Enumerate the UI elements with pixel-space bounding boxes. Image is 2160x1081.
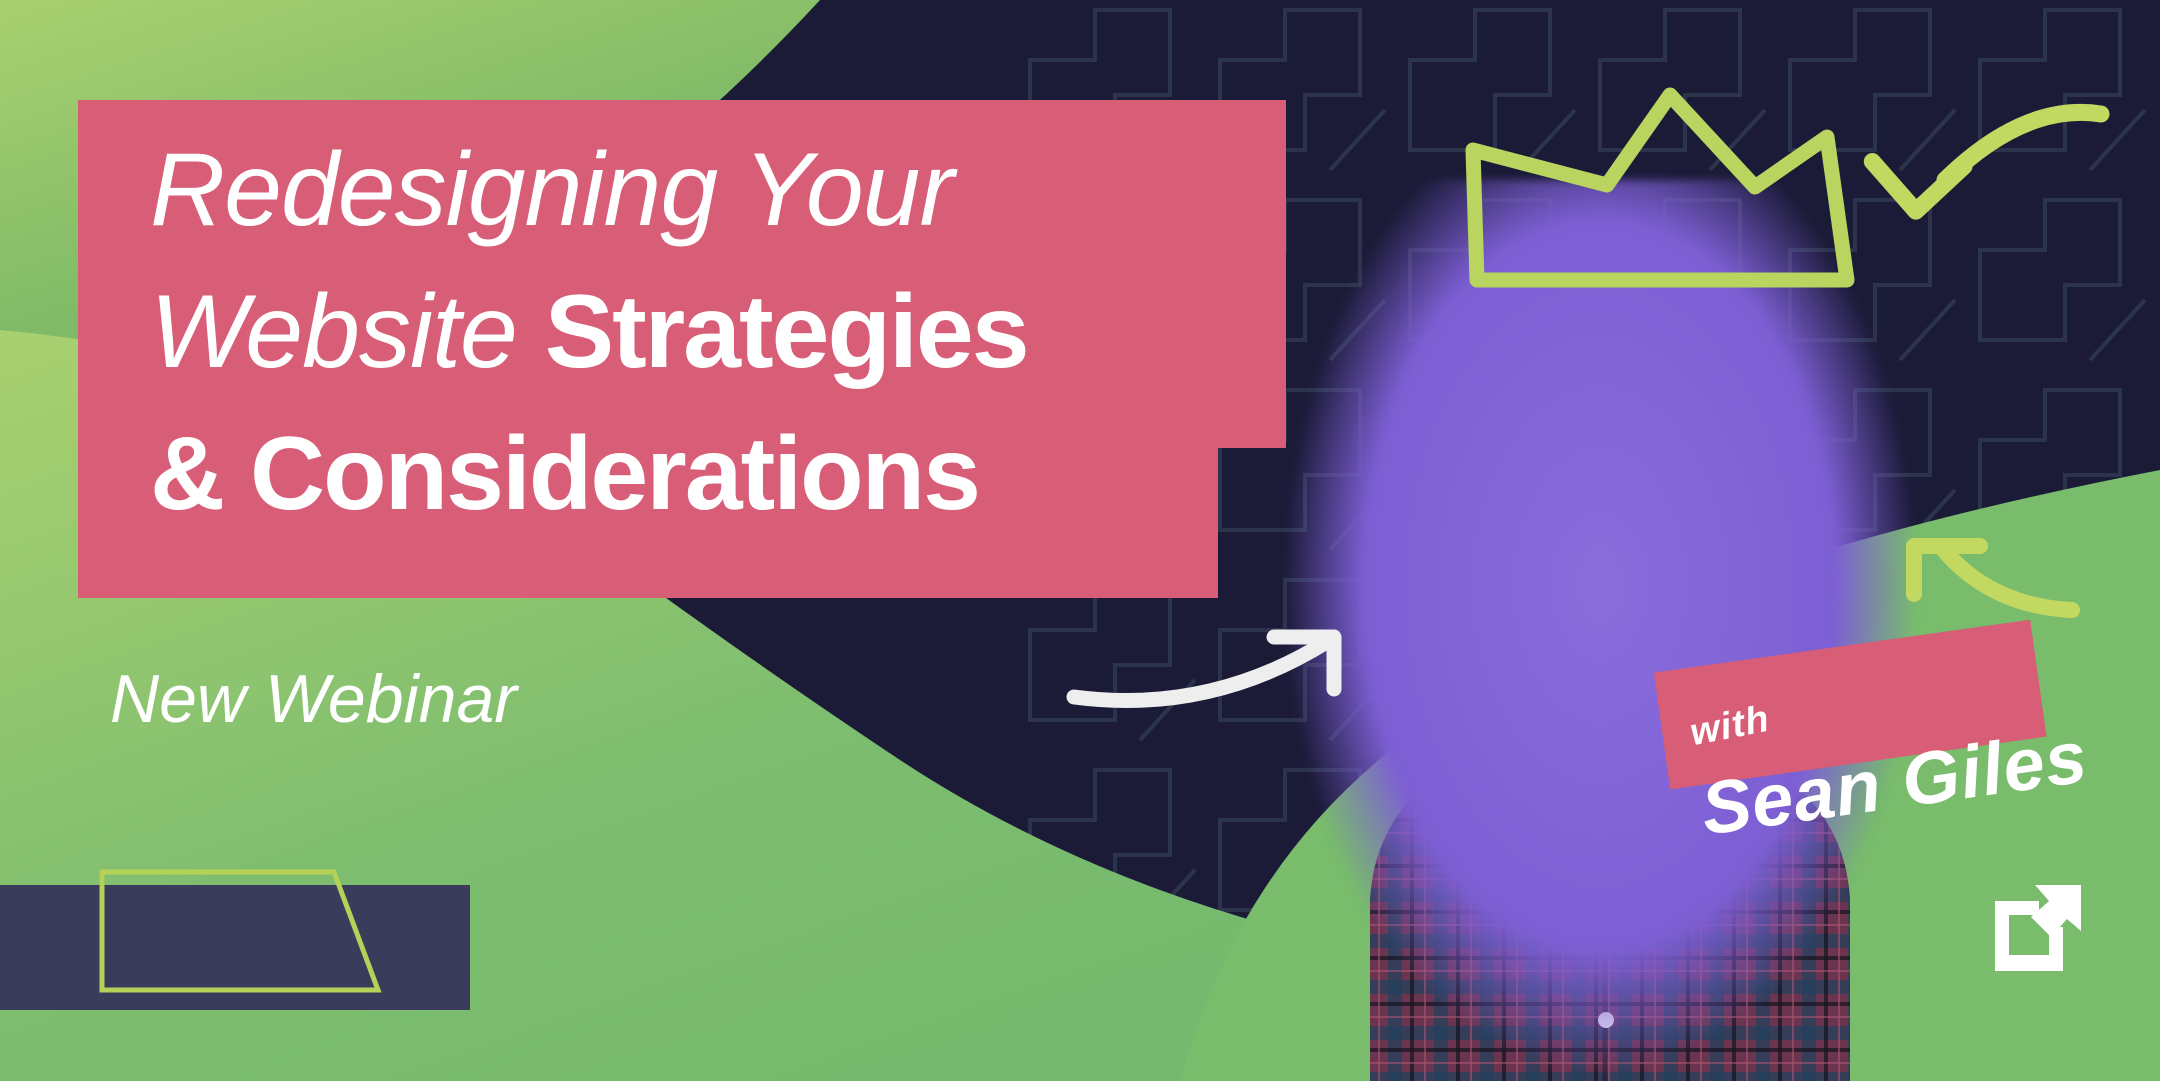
title-line-1-text: Redesigning Your [150,132,953,248]
external-link-icon[interactable] [1995,885,2081,971]
speaker-photo-glow [1280,180,1920,1080]
title-line-2-bold-text: Strategies [545,274,1028,390]
trapezoid-outline-shape [96,866,386,996]
webinar-promo-banner: Redesigning Your Website Strategies & Co… [0,0,2160,1081]
subtitle: New Webinar [110,660,517,738]
curved-arrow-down-left-icon [1845,80,2145,240]
title-line-3-text: & Considerations [150,416,979,532]
crown-icon [1455,75,1865,305]
title-line-2: Website Strategies [150,280,1328,384]
page-title: Redesigning Your Website Strategies & Co… [78,100,1328,600]
title-line-3: & Considerations [150,422,1328,526]
curved-arrow-up-right-icon [1060,615,1360,745]
title-line-2-light-text: Website [150,274,545,390]
title-line-1: Redesigning Your [150,138,1328,242]
